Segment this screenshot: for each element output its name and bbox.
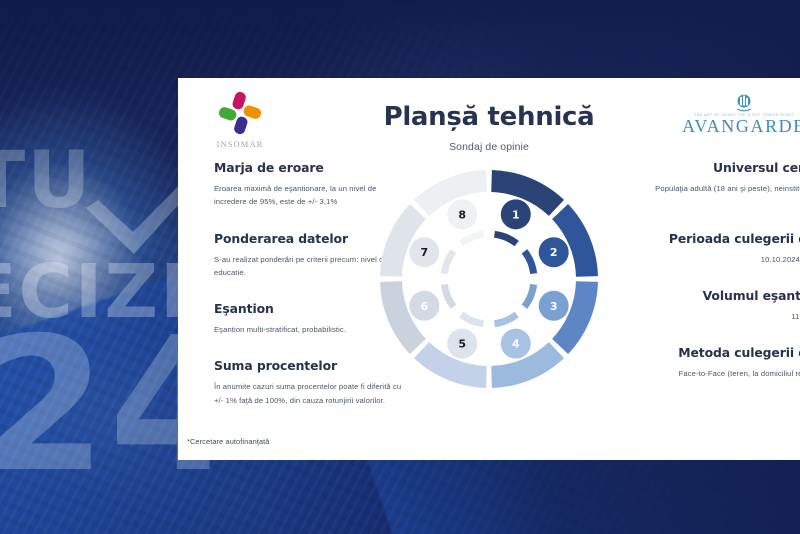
info-block-title: Volumul eşantionului bbox=[652, 288, 800, 303]
donut-segment bbox=[494, 234, 516, 243]
info-block-universul-cercetarii: Universul cercetării Populaţia adultă (1… bbox=[652, 160, 800, 209]
segmented-donut-chart: 12345678 bbox=[374, 164, 604, 394]
right-info-column: Universul cercetării Populaţia adultă (1… bbox=[652, 160, 800, 380]
svg-text:5: 5 bbox=[458, 338, 466, 351]
svg-text:4: 4 bbox=[512, 338, 520, 351]
donut-segment bbox=[494, 314, 516, 323]
footnote: *Cercetare autofinanţată bbox=[187, 437, 270, 446]
svg-text:3: 3 bbox=[550, 300, 558, 313]
donut-bullet-5: 5 bbox=[447, 329, 477, 359]
info-block-body: 10.10.2024 – 20.10.2024 bbox=[652, 253, 800, 266]
svg-text:7: 7 bbox=[421, 246, 429, 259]
info-block-title: Universul cercetării bbox=[652, 160, 800, 175]
info-block-title: Metoda culegerii datelor bbox=[652, 345, 800, 360]
info-block-body: Populaţia adultă (18 ani şi peste), nein… bbox=[652, 182, 800, 209]
donut-segment bbox=[444, 284, 453, 306]
info-block-body: Face-to-Face (teren, la domiciliul respo… bbox=[652, 367, 800, 380]
info-block-body: 1190 de subiecţi bbox=[652, 310, 800, 323]
svg-text:8: 8 bbox=[458, 208, 466, 221]
info-block-volumul-esantionului: Volumul eşantionului 1190 de subiecţi bbox=[652, 288, 800, 323]
donut-segment bbox=[524, 251, 533, 273]
donut-bullet-6: 6 bbox=[409, 291, 439, 321]
donut-bullet-3: 3 bbox=[539, 291, 569, 321]
card-header: Planșă tehnică Sondaj de opinie bbox=[178, 102, 800, 153]
donut-bullet-8: 8 bbox=[447, 199, 477, 229]
donut-segment bbox=[461, 234, 483, 243]
donut-segment bbox=[461, 314, 483, 323]
screenshot-stage: TU ECIZI 24 INSOMAR bbox=[0, 0, 800, 534]
donut-bullet-2: 2 bbox=[539, 237, 569, 267]
donut-segment bbox=[444, 251, 453, 273]
donut-bullet-7: 7 bbox=[409, 237, 439, 267]
page-title: Planșă tehnică bbox=[178, 102, 800, 132]
info-block-perioada-culegerii-datelor: Perioada culegerii datelor 10.10.2024 – … bbox=[652, 231, 800, 266]
info-block-title: Perioada culegerii datelor bbox=[652, 231, 800, 246]
info-block-metoda-culegerii-datelor: Metoda culegerii datelor Face-to-Face (t… bbox=[652, 345, 800, 380]
svg-text:2: 2 bbox=[550, 246, 558, 259]
page-subtitle: Sondaj de opinie bbox=[178, 141, 800, 153]
donut-segment bbox=[524, 284, 533, 306]
donut-bullet-4: 4 bbox=[501, 329, 531, 359]
donut-bullet-1: 1 bbox=[501, 199, 531, 229]
svg-text:6: 6 bbox=[421, 300, 429, 313]
svg-text:1: 1 bbox=[512, 208, 520, 221]
technical-sheet-card: INSOMAR THE ART OF DOING THE RIGHT THING… bbox=[178, 78, 800, 460]
